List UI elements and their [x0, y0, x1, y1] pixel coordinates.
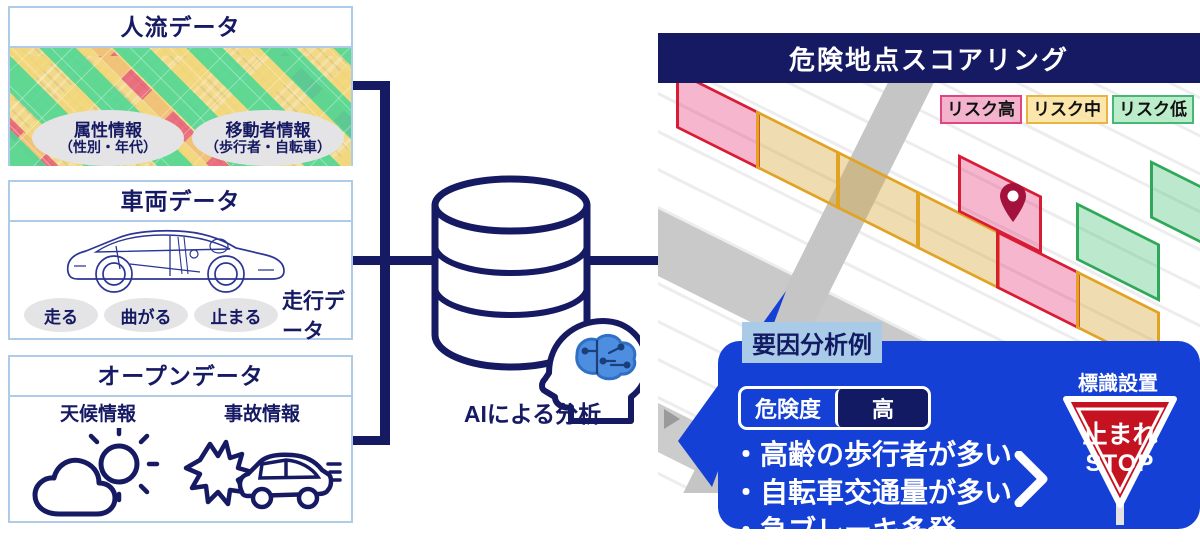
ai-analysis-graphic [425, 175, 640, 425]
risk-level-key: 危険度 [741, 389, 835, 427]
pill-mover-info: 移動者情報 （歩行者・自転車） [192, 110, 344, 166]
open-data-item-weather: 天候情報 [18, 399, 178, 523]
risk-scoring-title: 危険地点スコアリング [658, 33, 1200, 83]
pill-attribute-info: 属性情報 （性別・年代） [32, 110, 184, 166]
sun-cloud-icon [23, 428, 173, 520]
legend-risk-low: リスク低 [1112, 95, 1194, 124]
panel-vehicle-data: 車両データ 走る 曲がる [8, 180, 353, 340]
panel-people-flow-title: 人流データ [10, 8, 351, 48]
stop-sign-icon: 止まれ STOP [1062, 393, 1178, 525]
map-pin-icon[interactable] [998, 183, 1028, 223]
factor-analysis-callout: 危険度 高 ・高齢の歩行者が多い ・自転車交通量が多い ・急ブレーキ多発 標識設… [718, 341, 1200, 529]
pill-mover-info-line2: （歩行者・自転車） [205, 140, 331, 156]
factor-analysis-tag: 要因分析例 [742, 322, 882, 363]
panel-people-flow: 人流データ 属性情報 （性別・年代） 移動者情報 （歩行者・自転車） [8, 6, 353, 166]
risk-level-value: 高 [835, 389, 928, 427]
pill-drive-stop-label: 止まる [211, 303, 262, 328]
panel-people-flow-body: 属性情報 （性別・年代） 移動者情報 （歩行者・自転車） [10, 48, 351, 166]
panel-vehicle-data-title: 車両データ [10, 182, 351, 222]
pill-mover-info-line1: 移動者情報 [226, 121, 311, 140]
infographic-root: 人流データ 属性情報 （性別・年代） 移動者情報 （歩行者・自転車） 車両データ [0, 0, 1200, 529]
factor-bullet-1: ・自転車交通量が多い [732, 471, 1012, 511]
open-data-weather-label: 天候情報 [18, 399, 178, 426]
database-cylinder-icon [425, 175, 640, 425]
panel-vehicle-data-body: 走る 曲がる 止まる 走行データ [10, 222, 351, 340]
open-data-item-accident: 事故情報 [182, 399, 342, 523]
pill-drive-turn-label: 曲がる [121, 303, 172, 328]
driving-data-label: 走行データ [282, 298, 351, 332]
open-data-accident-label: 事故情報 [182, 399, 342, 426]
chevron-right-icon [1014, 451, 1048, 507]
ai-analysis-caption: AIによる分析 [425, 395, 640, 429]
play-triangle-icon[interactable] [664, 409, 680, 429]
legend-risk-mid: リスク中 [1026, 95, 1108, 124]
pill-attribute-info-line1: 属性情報 [74, 121, 142, 140]
risk-legend: リスク高 リスク中 リスク低 [940, 95, 1194, 124]
panel-open-data-body: 天候情報 事故情報 [10, 397, 351, 523]
pill-drive-turn: 曲がる [104, 298, 188, 332]
car-crash-icon [182, 428, 342, 520]
legend-risk-high: リスク高 [940, 95, 1022, 124]
factor-bullet-0: ・高齢の歩行者が多い [732, 433, 1012, 473]
panel-open-data: オープンデータ 天候情報 事故情報 [8, 355, 353, 523]
stop-sign-text-en: STOP [1086, 450, 1155, 477]
pill-drive-run: 走る [24, 298, 98, 332]
sign-install-label: 標識設置 [1048, 367, 1188, 396]
pill-drive-run-label: 走る [44, 303, 78, 328]
risk-level-pill: 危険度 高 [738, 386, 931, 430]
factor-bullet-2: ・急ブレーキ多発 [732, 509, 956, 549]
stop-sign-text-jp: 止まれ [1082, 421, 1157, 449]
pill-drive-stop: 止まる [194, 298, 278, 332]
panel-open-data-title: オープンデータ [10, 357, 351, 397]
pill-attribute-info-line2: （性別・年代） [59, 140, 157, 156]
car-outline-icon [60, 224, 290, 294]
